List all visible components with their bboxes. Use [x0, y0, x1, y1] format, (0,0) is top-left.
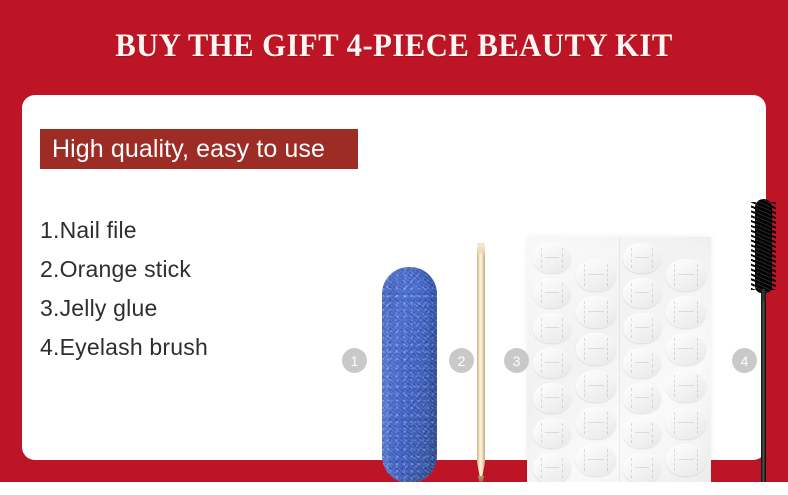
glue-tab	[533, 348, 571, 378]
glue-tab	[576, 444, 616, 476]
orange-stick-body	[477, 243, 485, 481]
glue-tab	[666, 259, 706, 291]
orange-stick-top-tip	[477, 243, 485, 253]
list-item: 4.Eyelash brush	[40, 328, 350, 367]
list-item: 1.Nail file	[40, 211, 350, 250]
list-item: 2.Orange stick	[40, 250, 350, 289]
glue-tab	[533, 418, 571, 448]
glue-tab	[666, 333, 706, 365]
feature-list: 1.Nail file 2.Orange stick 3.Jelly glue …	[40, 211, 350, 367]
glue-tab	[576, 407, 616, 439]
number-badge-3: 3	[504, 348, 529, 373]
product-eyelash-brush	[748, 199, 778, 495]
glue-tab	[576, 370, 616, 402]
glue-tab-column	[574, 243, 618, 476]
page-title: BUY THE GIFT 4-PIECE BEAUTY KIT	[28, 28, 761, 65]
number-badge-1: 1	[342, 348, 367, 373]
quality-banner: High quality, easy to use	[40, 129, 358, 169]
product-jelly-glue-sheet	[527, 237, 711, 483]
glue-tab	[576, 259, 616, 291]
content-card: High quality, easy to use 1.Nail file 2.…	[22, 95, 766, 460]
glue-tab	[666, 296, 706, 328]
number-badge-2: 2	[449, 348, 474, 373]
glue-tab-column	[664, 243, 708, 476]
quality-banner-label: High quality, easy to use	[52, 135, 325, 164]
glue-tab	[666, 370, 706, 402]
glue-tab	[623, 348, 661, 378]
glue-tab	[533, 383, 571, 413]
glue-tab	[623, 278, 661, 308]
product-orange-stick	[477, 243, 485, 481]
glue-tab	[576, 296, 616, 328]
number-badge-4: 4	[732, 348, 757, 373]
bottom-white-strip	[0, 482, 788, 495]
glue-tab	[533, 243, 571, 273]
glue-tab	[533, 278, 571, 308]
glue-tab-column	[620, 243, 664, 483]
glue-tab	[623, 383, 661, 413]
glue-tab	[623, 418, 661, 448]
glue-tab	[623, 453, 661, 483]
glue-tab	[666, 407, 706, 439]
nail-file-grain-texture	[382, 267, 437, 483]
glue-tab	[666, 444, 706, 476]
glue-tab	[623, 243, 661, 273]
glue-tab-column	[530, 243, 574, 483]
list-item: 3.Jelly glue	[40, 289, 350, 328]
product-nail-file	[382, 267, 437, 483]
eyelash-brush-handle	[761, 301, 766, 495]
glue-tab	[533, 453, 571, 483]
glue-tab	[623, 313, 661, 343]
product-banner-image: BUY THE GIFT 4-PIECE BEAUTY KIT High qua…	[0, 0, 788, 495]
eyelash-brush-head	[755, 199, 772, 293]
glue-tab	[576, 333, 616, 365]
glue-tab	[533, 313, 571, 343]
